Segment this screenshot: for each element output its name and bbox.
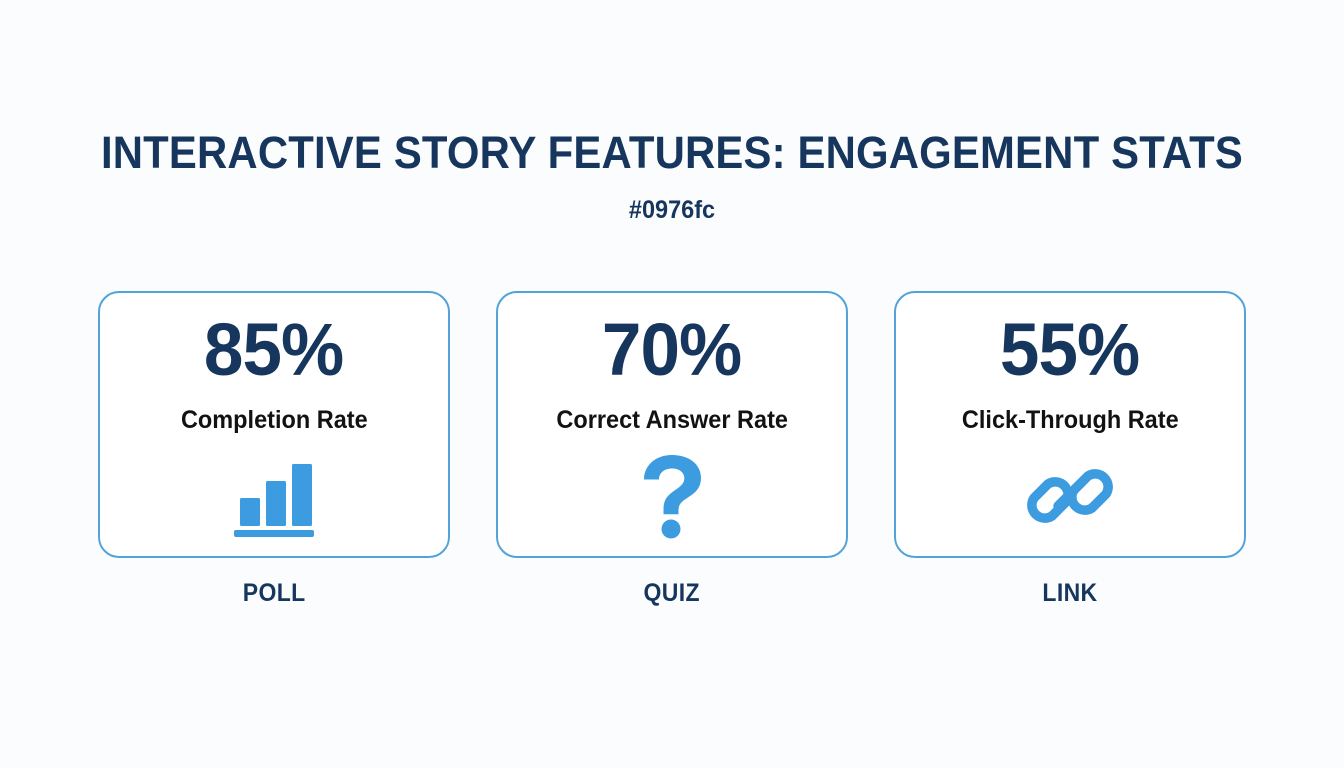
- card-caption: QUIZ: [644, 580, 700, 608]
- stat-value: 70%: [602, 313, 741, 387]
- stat-label: Correct Answer Rate: [556, 407, 788, 435]
- stat-card[interactable]: 70% Correct Answer Rate: [496, 291, 848, 558]
- stat-label: Click-Through Rate: [962, 407, 1179, 435]
- stat-card-poll: 85% Completion Rate POLL: [98, 291, 450, 608]
- bar-chart-icon: [226, 453, 322, 539]
- page-title: Interactive Story Features: Engagement S…: [47, 126, 1297, 179]
- stat-value: 55%: [1000, 313, 1139, 387]
- header: Interactive Story Features: Engagement S…: [0, 126, 1344, 225]
- link-chain-icon: [1025, 453, 1115, 539]
- stat-card[interactable]: 55% Click-Through Rate: [894, 291, 1246, 558]
- question-mark-icon: [637, 453, 707, 539]
- page-subtitle: #0976fc: [40, 197, 1303, 225]
- stat-card-link: 55% Click-Through Rate: [894, 291, 1246, 608]
- card-caption: LINK: [1042, 580, 1097, 608]
- stat-card[interactable]: 85% Completion Rate: [98, 291, 450, 558]
- card-caption: POLL: [243, 580, 306, 608]
- stat-card-quiz: 70% Correct Answer Rate QUIZ: [496, 291, 848, 608]
- stat-label: Completion Rate: [181, 407, 368, 435]
- stat-card-row: 85% Completion Rate POLL 70% Correct Ans…: [98, 291, 1246, 608]
- infographic-slide: Interactive Story Features: Engagement S…: [0, 0, 1344, 768]
- stat-value: 85%: [204, 313, 343, 387]
